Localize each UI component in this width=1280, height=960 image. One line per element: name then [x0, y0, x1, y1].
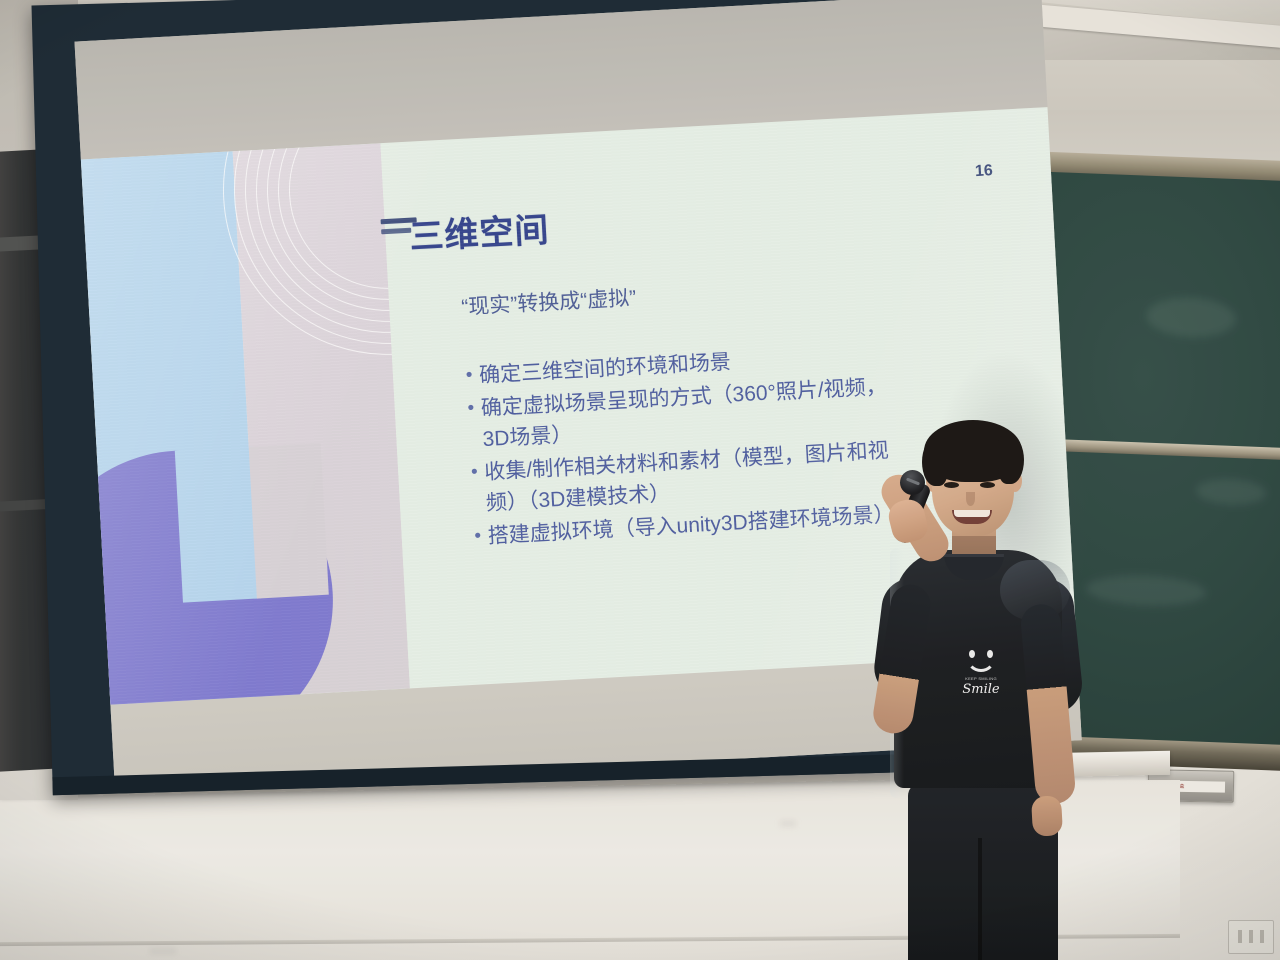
presenter-eye-left — [944, 482, 959, 488]
presenter-eye-right — [980, 482, 995, 488]
presenter-hair-side-left — [922, 438, 948, 486]
smiley-face-icon — [960, 648, 1002, 674]
presenter-hair-side-right — [998, 436, 1024, 484]
shirt-logo-word: Smile — [952, 682, 1010, 697]
bullet-marker-icon: • — [460, 393, 482, 424]
deco-circle-notch-blue — [175, 447, 261, 603]
deco-concentric-arcs — [214, 143, 410, 363]
presenter-leg-split — [978, 838, 982, 960]
accent-dash — [381, 228, 411, 235]
bullet-marker-icon: • — [467, 521, 489, 552]
slide-subheading: “现实”转换成“虚拟” — [461, 282, 637, 321]
presenter-nose — [966, 492, 975, 506]
slide-title: 三维空间 — [408, 202, 550, 258]
presenter-neck-shadow — [952, 536, 996, 554]
slide-decoration — [81, 143, 410, 704]
deco-circle-notch-pink — [249, 443, 329, 599]
classroom-photo: 粉笔盒 — [0, 0, 1280, 960]
bullet-marker-icon: • — [464, 457, 486, 488]
presenter: KEEP SMILING Smile — [860, 408, 1090, 960]
power-outlet — [1228, 920, 1274, 954]
shirt-logo: KEEP SMILING Smile — [952, 648, 1010, 702]
presenter-teeth — [954, 510, 990, 517]
bullet-marker-icon: • — [458, 360, 480, 391]
presenter-hand-right — [1031, 795, 1063, 837]
shirt-logo-tagline: KEEP SMILING — [952, 676, 1010, 681]
slide-page-number: 16 — [975, 162, 994, 181]
